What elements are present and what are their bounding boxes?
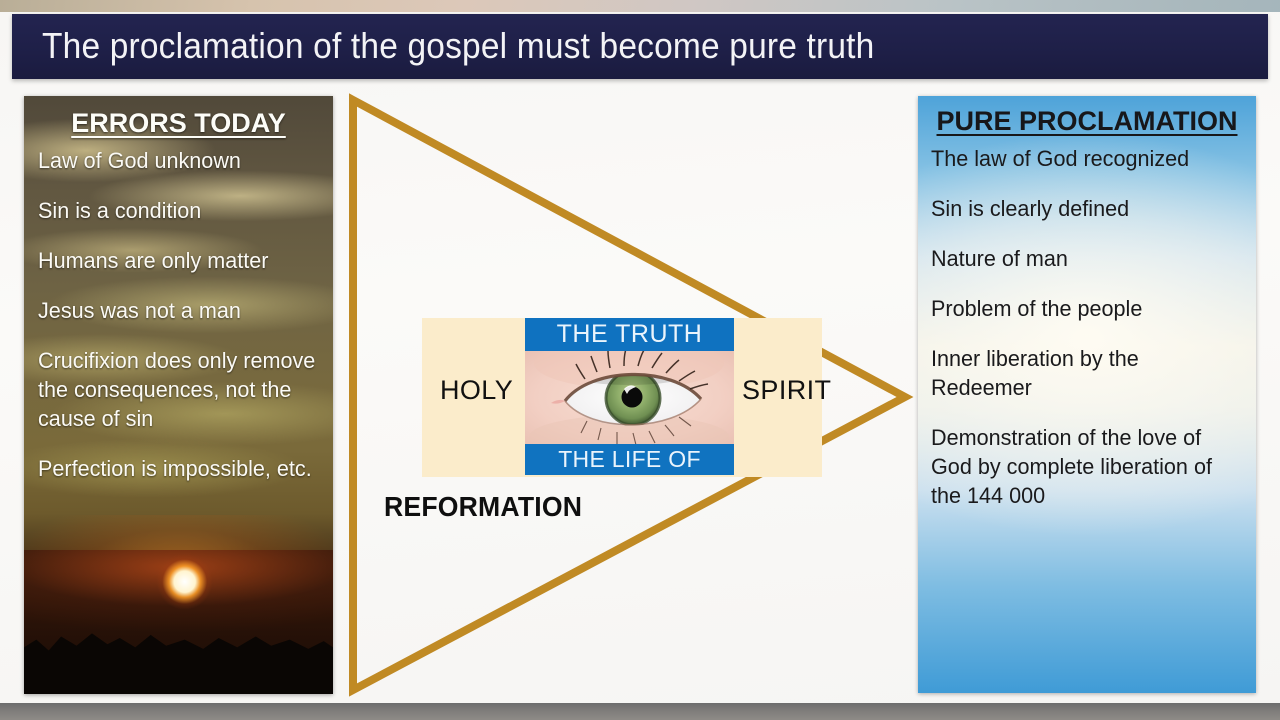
list-item: Law of God unknown <box>38 146 318 175</box>
errors-today-heading: ERRORS TODAY <box>24 108 333 139</box>
list-item: Sin is a condition <box>38 196 318 225</box>
page-title: The proclamation of the gospel must beco… <box>42 22 874 70</box>
list-item: Perfection is impossible, etc. <box>38 454 318 483</box>
slide-canvas: The proclamation of the gospel must beco… <box>0 0 1280 720</box>
list-item: The law of God recognized <box>931 144 1236 173</box>
list-item: Jesus was not a man <box>38 296 318 325</box>
eye-photo <box>525 351 734 444</box>
list-item: Sin is clearly defined <box>931 194 1236 223</box>
list-item: Problem of the people <box>931 294 1236 323</box>
list-item: Crucifixion does only remove the consequ… <box>38 346 318 433</box>
pure-proclamation-list: The law of God recognized Sin is clearly… <box>931 144 1249 531</box>
errors-today-list: Law of God unknown Sin is a condition Hu… <box>38 146 330 504</box>
list-item: Inner liberation by the Redeemer <box>931 344 1236 402</box>
spirit-label: SPIRIT <box>742 375 831 406</box>
list-item: Demonstration of the love of God by comp… <box>931 423 1236 510</box>
errors-today-content: ERRORS TODAY Law of God unknown Sin is a… <box>24 96 333 694</box>
pure-proclamation-panel: PURE PROCLAMATION The law of God recogni… <box>918 96 1256 693</box>
the-life-of-jesus-banner: THE LIFE OF JESUS <box>525 444 734 475</box>
list-item: Nature of man <box>931 244 1236 273</box>
eye-image-block: THE TRUTH <box>525 318 734 475</box>
slide-title-bar: The proclamation of the gospel must beco… <box>12 14 1268 79</box>
the-truth-banner: THE TRUTH <box>525 318 734 351</box>
errors-today-panel: ERRORS TODAY Law of God unknown Sin is a… <box>24 96 333 694</box>
bottom-bar <box>0 703 1280 720</box>
holy-label: HOLY <box>440 375 513 406</box>
reformation-caption: REFORMATION <box>384 491 582 523</box>
pure-proclamation-heading: PURE PROCLAMATION <box>918 106 1256 137</box>
list-item: Humans are only matter <box>38 246 318 275</box>
